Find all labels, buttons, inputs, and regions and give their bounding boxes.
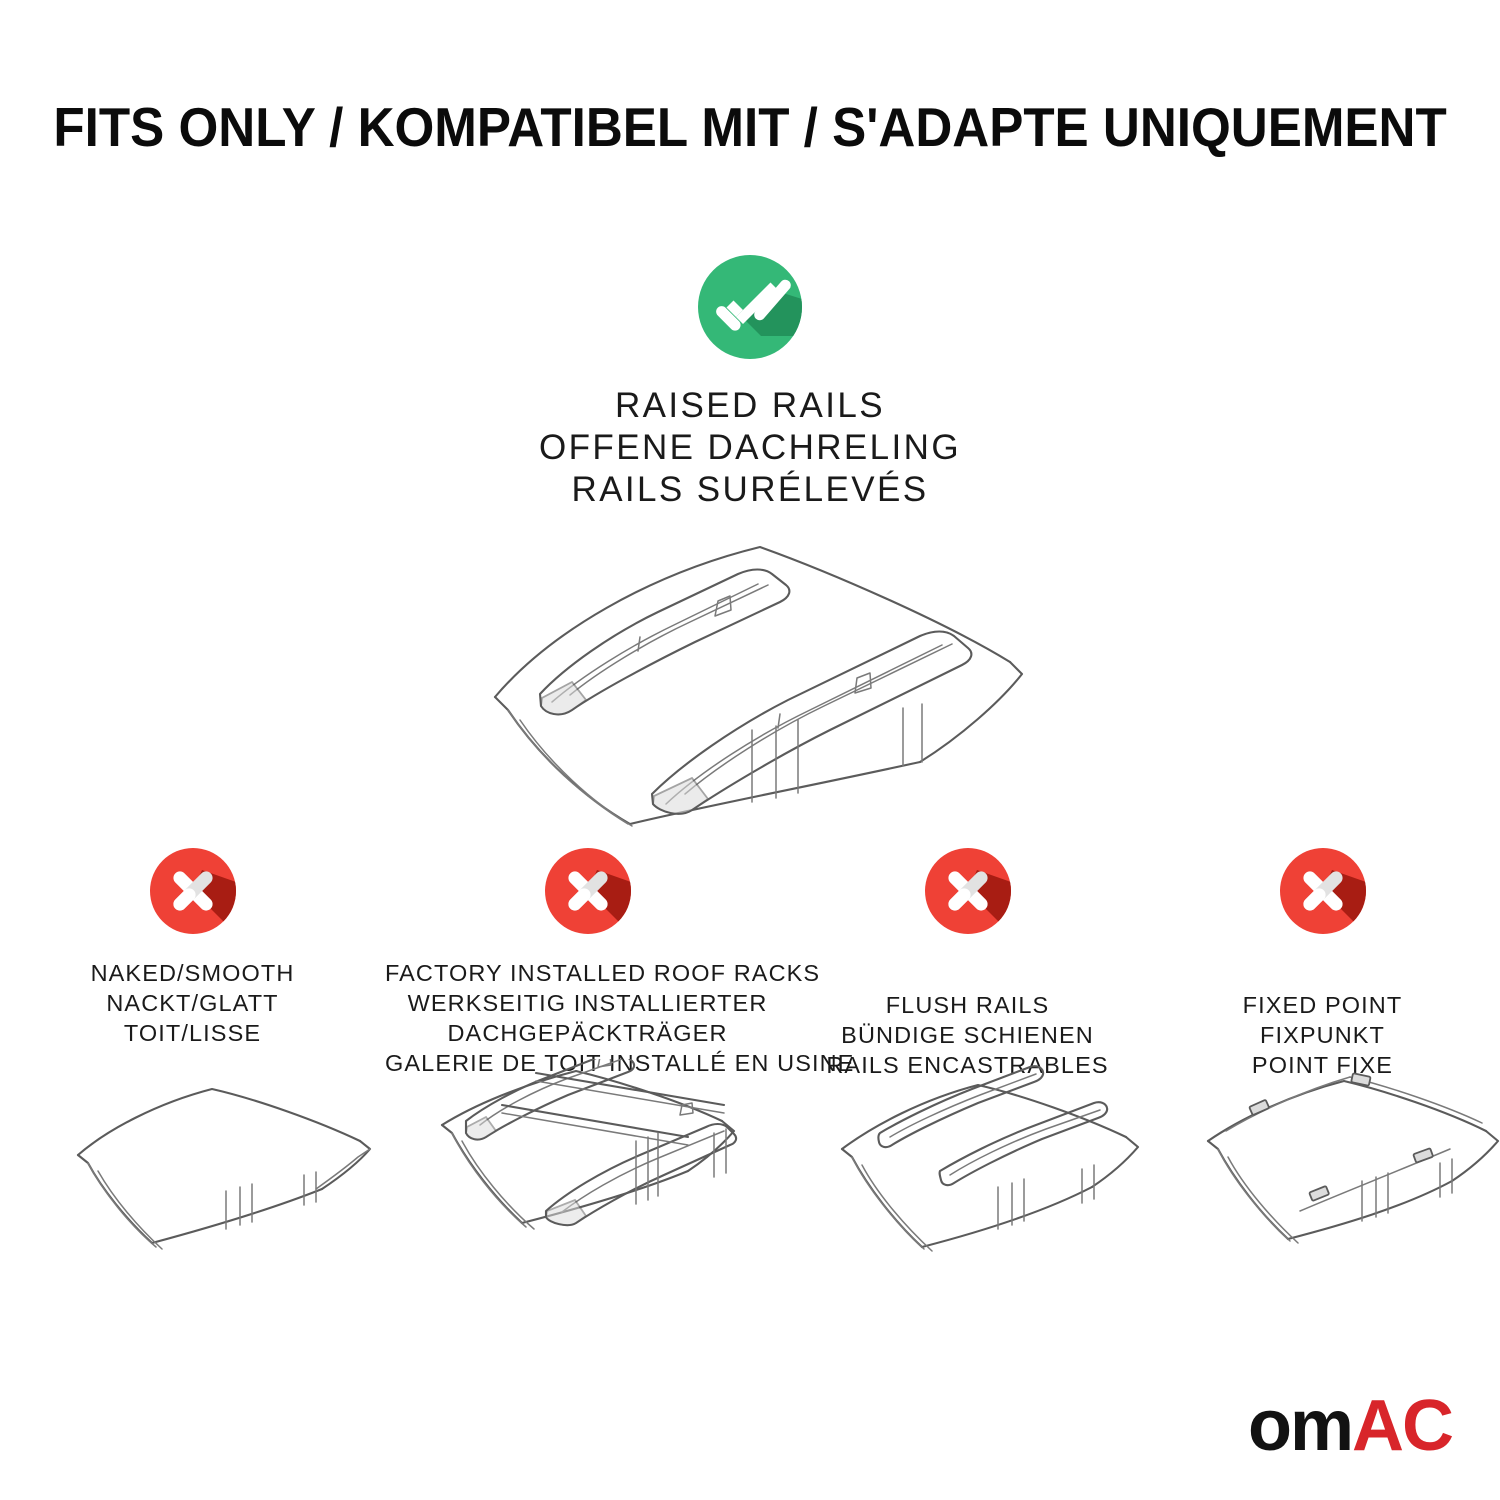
page-title: FITS ONLY / KOMPATIBEL MIT / S'ADAPTE UN…	[53, 96, 1446, 158]
logo-text-om: om	[1248, 1390, 1352, 1462]
page-title-bar: FITS ONLY / KOMPATIBEL MIT / S'ADAPTE UN…	[0, 96, 1500, 158]
caption-line-1: FIXED POINT	[1145, 990, 1500, 1020]
caption-line-2: BÜNDIGE SCHIENEN	[790, 1020, 1145, 1050]
logo-text-ac: AC	[1352, 1390, 1452, 1462]
caption-line-2: WERKSEITIG INSTALLIERTER	[385, 988, 790, 1018]
x-icon-glyph	[1280, 848, 1366, 934]
x-icon	[545, 848, 631, 934]
car-roof-flush-rails-illustration	[812, 1063, 1172, 1285]
caption-line-1: FLUSH RAILS	[790, 990, 1145, 1020]
incompatible-sections: NAKED/SMOOTH NACKT/GLATT TOIT/LISSE FACT…	[0, 848, 1500, 1080]
x-icon	[925, 848, 1011, 934]
car-roof-fixed-point-illustration	[1182, 1063, 1500, 1285]
badge-wrap	[385, 848, 790, 944]
check-icon	[698, 255, 802, 359]
badge-wrap	[790, 848, 1145, 944]
compatible-section: RAISED RAILS OFFENE DACHRELING RAILS SUR…	[0, 255, 1500, 511]
roof-type-illustrations	[0, 1055, 1500, 1285]
car-roof-naked-smooth-illustration	[40, 1065, 400, 1285]
compatible-caption: RAISED RAILS OFFENE DACHRELING RAILS SUR…	[0, 385, 1500, 511]
x-icon	[1280, 848, 1366, 934]
caption-line-2: FIXPUNKT	[1145, 1020, 1500, 1050]
caption-line-3: DACHGEPÄCKTRÄGER	[385, 1018, 790, 1048]
caption-line-2: NACKT/GLATT	[0, 988, 385, 1018]
x-icon-glyph	[150, 848, 236, 934]
badge-wrap	[0, 848, 385, 944]
x-icon-glyph	[545, 848, 631, 934]
caption-line-1: FACTORY INSTALLED ROOF RACKS	[385, 958, 790, 988]
incompatible-column-factory-roof-racks: FACTORY INSTALLED ROOF RACKS WERKSEITIG …	[385, 848, 790, 1080]
badge-wrap	[1145, 848, 1500, 944]
incompatible-caption: NAKED/SMOOTH NACKT/GLATT TOIT/LISSE	[0, 958, 385, 1048]
compatible-line-3: RAILS SURÉLEVÉS	[0, 469, 1500, 511]
compatible-line-2: OFFENE DACHRELING	[0, 427, 1500, 469]
car-roof-raised-rails-illustration	[400, 512, 1100, 832]
check-icon-glyph	[698, 255, 802, 359]
caption-line-1: NAKED/SMOOTH	[0, 958, 385, 988]
x-icon-glyph	[925, 848, 1011, 934]
caption-line-3: TOIT/LISSE	[0, 1018, 385, 1048]
incompatible-column-fixed-point: FIXED POINT FIXPUNKT POINT FIXE	[1145, 848, 1500, 1080]
car-roof-factory-roof-racks-illustration	[418, 1059, 788, 1285]
compatible-line-1: RAISED RAILS	[0, 385, 1500, 427]
incompatible-column-naked-smooth: NAKED/SMOOTH NACKT/GLATT TOIT/LISSE	[0, 848, 385, 1080]
omac-logo: omAC	[1248, 1390, 1452, 1462]
incompatible-column-flush-rails: FLUSH RAILS BÜNDIGE SCHIENEN RAILS ENCAS…	[790, 848, 1145, 1080]
x-icon	[150, 848, 236, 934]
